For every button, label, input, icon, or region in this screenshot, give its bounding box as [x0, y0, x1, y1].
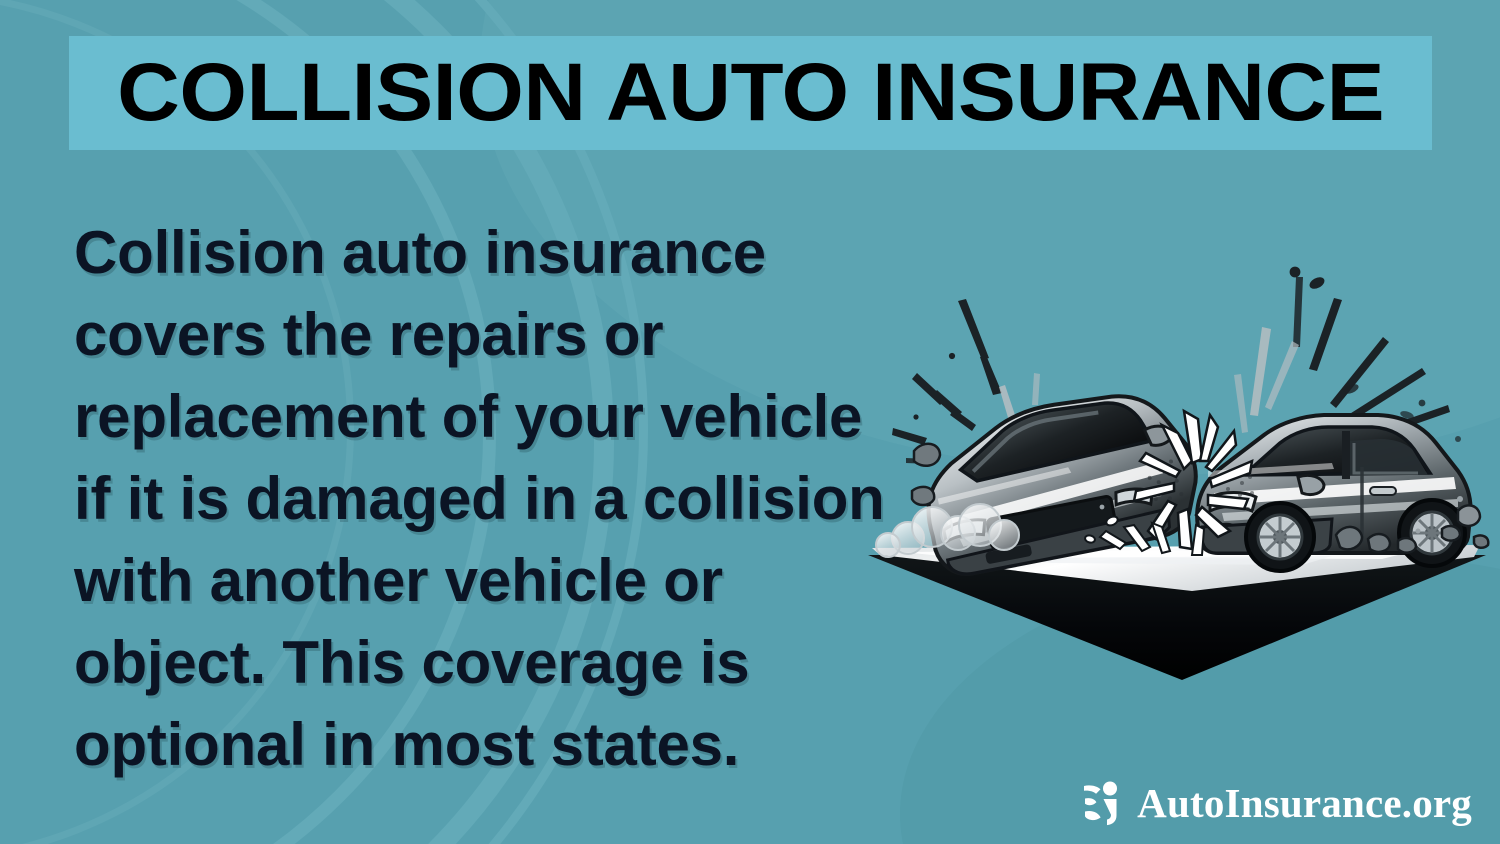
body-line-6: object. This coverage is — [74, 622, 894, 704]
car-right — [1197, 415, 1470, 571]
ai-monogram-icon — [1081, 780, 1123, 826]
body-line-1: Collision auto insurance — [74, 212, 894, 294]
body-paragraph: Collision auto insurance covers the repa… — [74, 212, 894, 786]
body-line-7: optional in most states. — [74, 704, 894, 786]
title-banner: COLLISION AUTO INSURANCE — [69, 36, 1432, 150]
brand-logo[interactable]: AutoInsurance.org — [1081, 780, 1472, 826]
infographic-card: COLLISION AUTO INSURANCE Collision auto … — [0, 0, 1500, 844]
body-line-3: replacement of your vehicle — [74, 376, 894, 458]
page-title: COLLISION AUTO INSURANCE — [117, 52, 1384, 134]
body-line-5: with another vehicle or — [74, 540, 894, 622]
brand-name: AutoInsurance.org — [1137, 783, 1472, 824]
body-line-4: if it is damaged in a collision — [74, 458, 894, 540]
wheel-front — [1246, 503, 1314, 571]
car-collision-illustration — [862, 255, 1492, 680]
body-line-2: covers the repairs or — [74, 294, 894, 376]
